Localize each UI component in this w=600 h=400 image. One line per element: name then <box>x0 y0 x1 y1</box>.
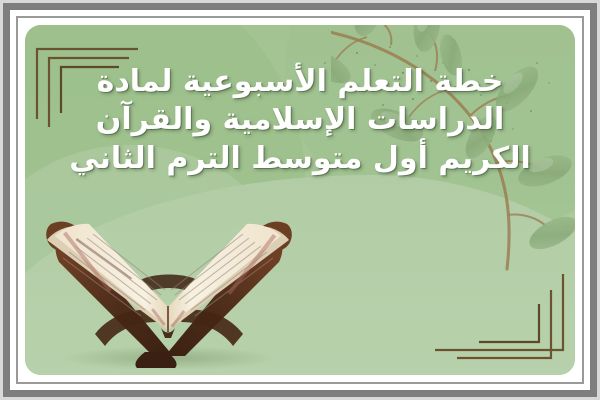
poster-card: خطة التعلم الأسبوعية لمادة الدراسات الإس… <box>0 0 600 400</box>
corner-bracket-bottom-right <box>417 264 567 369</box>
quran-on-rehal-icon <box>33 206 303 371</box>
title-line-1: خطة التعلم الأسبوعية لمادة <box>59 63 541 101</box>
title-line-2: الدراسات الإسلامية والقرآن <box>59 101 541 139</box>
green-content-panel: خطة التعلم الأسبوعية لمادة الدراسات الإس… <box>25 25 575 375</box>
title-line-3: الكريم أول متوسط الترم الثاني <box>59 140 541 178</box>
poster-title: خطة التعلم الأسبوعية لمادة الدراسات الإس… <box>25 63 575 178</box>
